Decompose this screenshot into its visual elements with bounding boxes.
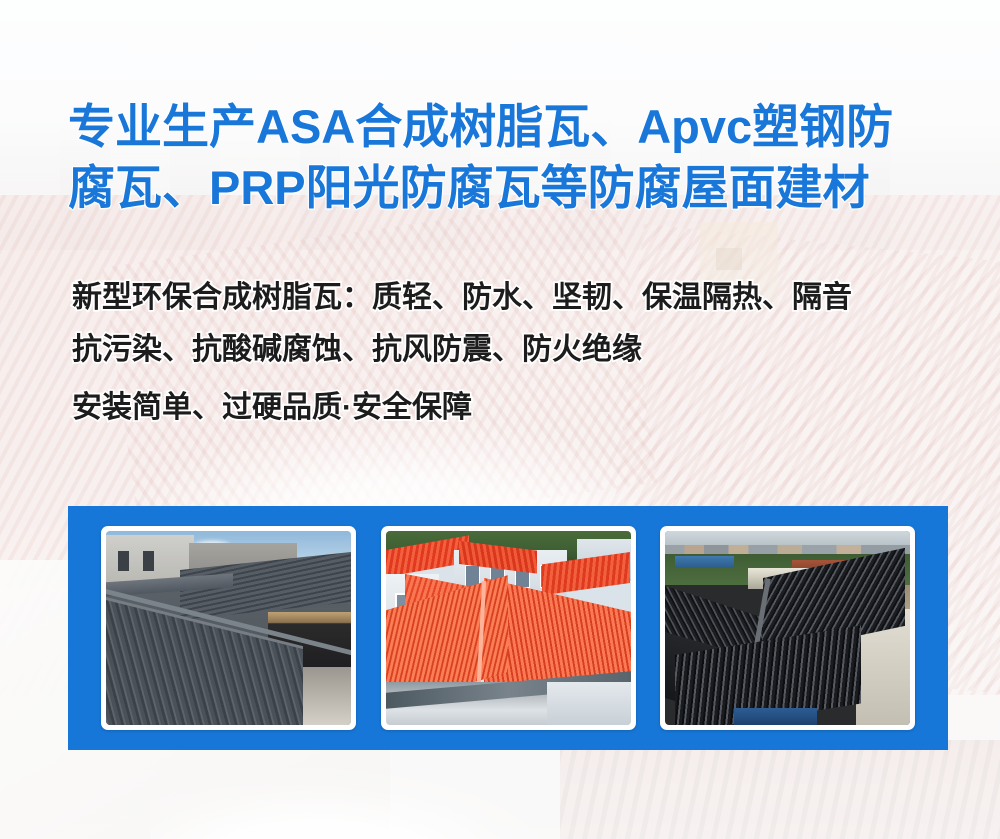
photo-frame-2[interactable] — [381, 526, 636, 730]
photo-gallery-panel — [68, 506, 948, 750]
subtitle-line-2: 抗污染、抗酸碱腐蚀、抗风防震、防火绝缘 — [72, 324, 952, 376]
photo3-blue-roof-building — [675, 556, 734, 568]
dark-grey-resin-tile-roof-photo — [106, 531, 351, 725]
subtitle: 新型环保合成树脂瓦：质轻、防水、坚韧、保温隔热、隔音 抗污染、抗酸碱腐蚀、抗风防… — [72, 272, 952, 434]
black-resin-tile-roof-photo — [665, 531, 910, 725]
headline-line-1: 专业生产ASA合成树脂瓦、Apvc塑钢防 — [68, 96, 948, 157]
photo2-lower-building — [547, 682, 630, 725]
photo-frame-1[interactable] — [101, 526, 356, 730]
headline: 专业生产ASA合成树脂瓦、Apvc塑钢防 腐瓦、PRP阳光防腐瓦等防腐屋面建材 — [68, 96, 948, 218]
headline-line-2: 腐瓦、PRP阳光防腐瓦等防腐屋面建材 — [68, 157, 948, 218]
photo-frame-3[interactable] — [660, 526, 915, 730]
photo3-blue-tarp — [734, 708, 817, 725]
subtitle-line-3: 安装简单、过硬品质·安全保障 — [72, 382, 952, 434]
red-resin-tile-roof-photo — [386, 531, 631, 725]
product-banner: 专业生产ASA合成树脂瓦、Apvc塑钢防 腐瓦、PRP阳光防腐瓦等防腐屋面建材 … — [0, 0, 1000, 839]
banner-content: 专业生产ASA合成树脂瓦、Apvc塑钢防 腐瓦、PRP阳光防腐瓦等防腐屋面建材 … — [0, 0, 1000, 839]
subtitle-line-1: 新型环保合成树脂瓦：质轻、防水、坚韧、保温隔热、隔音 — [72, 272, 952, 324]
